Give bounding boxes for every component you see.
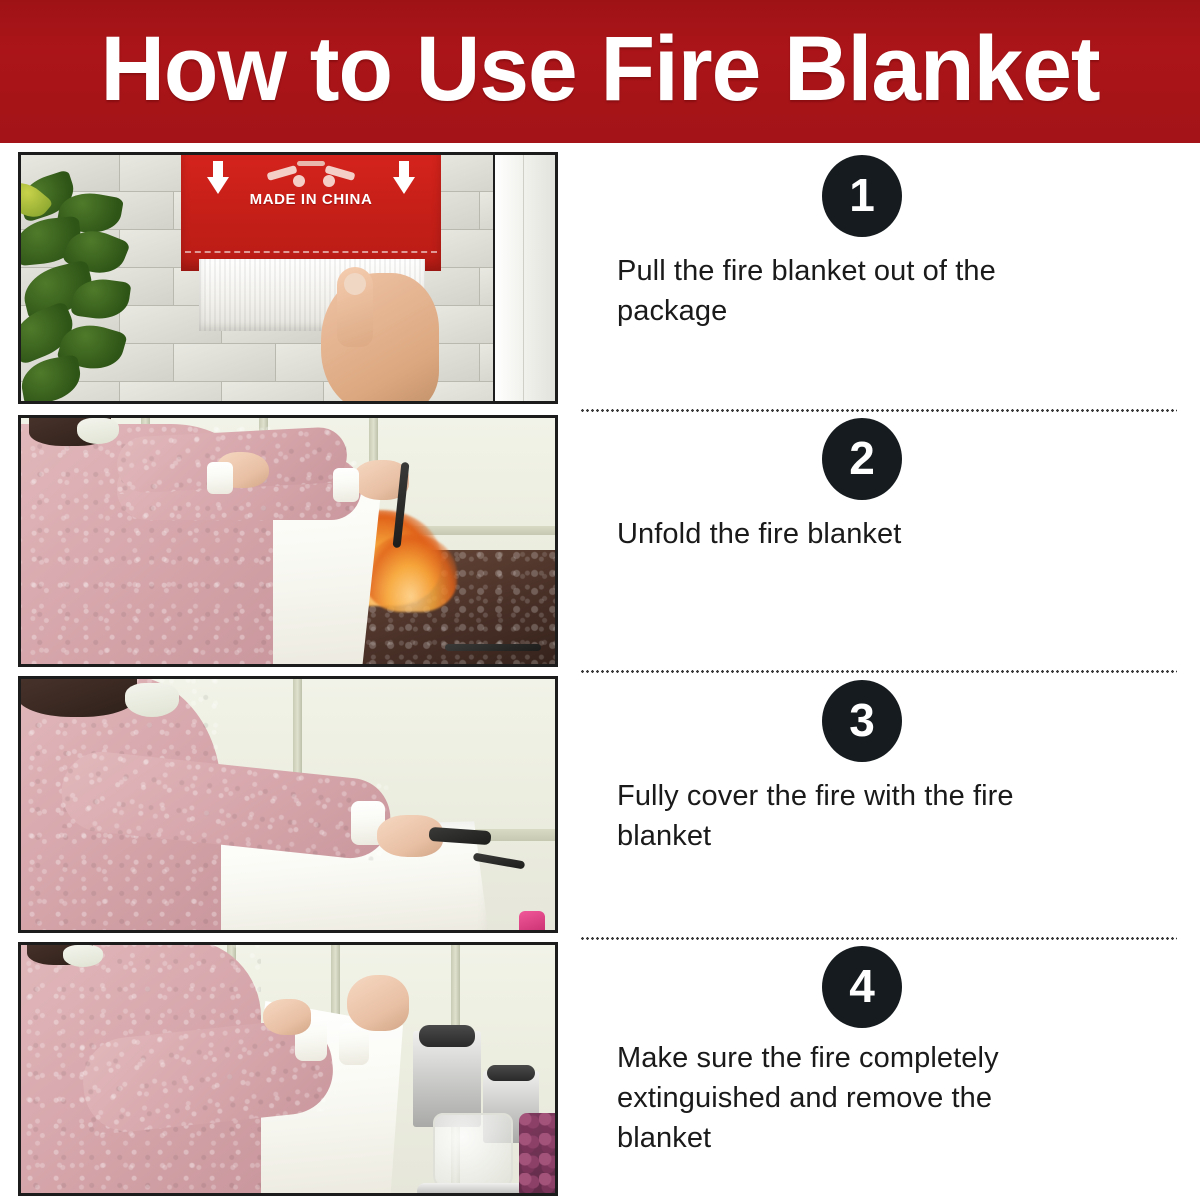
arrow-down-left-icon: [207, 161, 229, 195]
houseplant: [21, 175, 165, 401]
step-4: 4 Make sure the fire completely extingui…: [578, 938, 1178, 1200]
photo-2-scene: [21, 418, 555, 664]
step-4-number: 4: [849, 963, 875, 1011]
pouch-stitching: [185, 251, 437, 253]
step-4-photo: [18, 942, 558, 1196]
step-3-text: Fully cover the fire with the fire blank…: [617, 776, 1087, 856]
photo-3-scene: [21, 679, 555, 930]
step-1-badge: 1: [822, 155, 902, 237]
hand-left: [263, 999, 311, 1035]
pull-hands-icon: [267, 161, 355, 187]
step-2-number: 2: [849, 435, 875, 483]
step-2-text: Unfold the fire blanket: [617, 514, 1087, 554]
pouch-label: MADE IN CHINA: [181, 191, 441, 208]
arrow-down-right-icon: [393, 161, 415, 195]
step-1-number: 1: [849, 172, 875, 220]
step-1: 1 Pull the fire blanket out of the packa…: [578, 147, 1178, 410]
pink-utensil: [519, 911, 545, 930]
grapes: [519, 1113, 555, 1193]
fire-blanket-pouch: MADE IN CHINA: [181, 155, 441, 271]
steps-column: 1 Pull the fire blanket out of the packa…: [578, 143, 1178, 1200]
photo-4-scene: [21, 945, 555, 1193]
cable: [445, 644, 541, 651]
step-2-badge: 2: [822, 418, 902, 500]
step-1-text: Pull the fire blanket out of the package: [617, 251, 1087, 331]
step-3-number: 3: [849, 697, 875, 745]
glass-kettle: [433, 1113, 513, 1191]
cuff-right: [333, 468, 359, 502]
flame: [365, 534, 457, 612]
door-frame: [493, 155, 555, 401]
face-mask: [63, 945, 103, 967]
photo-1-scene: MADE IN CHINA: [21, 155, 555, 401]
step-3-badge: 3: [822, 680, 902, 762]
step-3-photo: [18, 676, 558, 933]
step-4-badge: 4: [822, 946, 902, 1028]
coffee-maker-top: [419, 1025, 475, 1047]
step-1-photo: MADE IN CHINA: [18, 152, 558, 404]
page-title: How to Use Fire Blanket: [100, 23, 1099, 121]
blender-lid: [487, 1065, 535, 1081]
step-2-photo: [18, 415, 558, 667]
face-mask: [125, 683, 179, 717]
header-banner: How to Use Fire Blanket: [0, 0, 1200, 143]
step-2: 2 Unfold the fire blanket: [578, 410, 1178, 672]
person-hair: [21, 679, 137, 717]
step-3: 3 Fully cover the fire with the fire bla…: [578, 672, 1178, 938]
step-4-text: Make sure the fire completely extinguish…: [617, 1038, 1087, 1158]
content-area: MADE IN CHINA: [0, 143, 1200, 1200]
hand-right: [347, 975, 409, 1031]
photo-column: MADE IN CHINA: [18, 152, 558, 1196]
kettle-base: [417, 1183, 533, 1193]
cuff-left: [207, 462, 233, 494]
index-finger: [337, 267, 373, 347]
face-mask: [77, 418, 119, 444]
